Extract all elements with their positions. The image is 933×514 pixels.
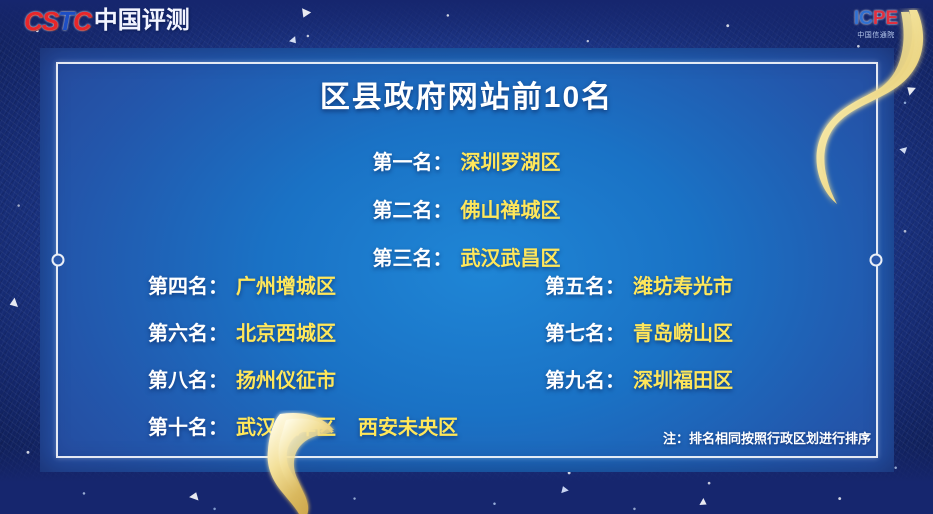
rank-label: 第六名： <box>148 323 228 345</box>
rank-value: 武汉武昌区 <box>461 248 561 270</box>
rank-row: 第三名：武汉武昌区 <box>0 242 933 271</box>
cstc-logo-chinese: 中国评测 <box>94 9 190 33</box>
cstc-logo[interactable]: CSTC 中国评测 <box>24 8 190 34</box>
rank-row: 第五名：潍坊寿光市 <box>545 270 733 299</box>
rank-value: 佛山禅城区 <box>461 200 561 222</box>
rank-row: 第八名：扬州仪征市 <box>148 364 458 393</box>
rank-value: 扬州仪征市 <box>236 370 336 392</box>
partner-logo-mark: IC <box>854 8 873 29</box>
page-title: 区县政府网站前10名 <box>0 72 933 116</box>
top-three-list: 第一名：深圳罗湖区 第二名：佛山禅城区 第三名：武汉武昌区 <box>0 146 933 290</box>
logo-mark-part2: T <box>58 6 73 36</box>
rank-label: 第一名： <box>373 152 453 174</box>
poster-stage: CSTC 中国评测 ICPE 中国信通院 区县政府网站前10名 第一名：深圳罗湖… <box>0 0 933 514</box>
rank-label: 第五名： <box>545 276 625 298</box>
rank-label: 第八名： <box>148 370 228 392</box>
rank-value: 北京西城区 <box>236 323 336 345</box>
rank-value-secondary: 西安未央区 <box>358 417 458 439</box>
logo-mark-part1: CS <box>24 6 58 36</box>
rank-value: 广州增城区 <box>236 276 336 298</box>
rank-row: 第二名：佛山禅城区 <box>0 194 933 223</box>
footnote: 注：排名相同按照行政区划进行排序 <box>663 428 871 447</box>
partner-logo-subtitle: 中国信通院 <box>857 30 895 40</box>
cstc-logo-icon: CSTC <box>24 8 91 34</box>
rank-label: 第九名： <box>545 370 625 392</box>
rank-value: 深圳罗湖区 <box>461 152 561 174</box>
rank-row: 第六名：北京西城区 <box>148 317 458 346</box>
rank-row: 第一名：深圳罗湖区 <box>0 146 933 175</box>
rank-row: 第十名：武汉江岸区西安未央区 <box>148 411 458 440</box>
partner-logo-icon: ICPE <box>854 9 898 28</box>
logo-mark-part3: C <box>73 6 91 36</box>
rank-row: 第四名：广州增城区 <box>148 270 458 299</box>
partner-logo-mark-accent: PE <box>873 8 898 29</box>
rank-label: 第四名： <box>148 276 228 298</box>
rank-row: 第七名：青岛崂山区 <box>545 317 733 346</box>
rank-value: 潍坊寿光市 <box>633 276 733 298</box>
rank-value: 武汉江岸区 <box>236 417 336 439</box>
partner-logo[interactable]: ICPE 中国信通院 <box>837 6 915 42</box>
ranking-column-right: 第五名：潍坊寿光市 第七名：青岛崂山区 第九名：深圳福田区 <box>545 270 733 411</box>
rank-label: 第十名： <box>148 417 228 439</box>
rank-label: 第三名： <box>373 248 453 270</box>
rank-value: 深圳福田区 <box>633 370 733 392</box>
rank-value: 青岛崂山区 <box>633 323 733 345</box>
rank-row: 第九名：深圳福田区 <box>545 364 733 393</box>
rank-label: 第七名： <box>545 323 625 345</box>
rank-label: 第二名： <box>373 200 453 222</box>
ranking-column-left: 第四名：广州增城区 第六名：北京西城区 第八名：扬州仪征市 第十名：武汉江岸区西… <box>148 270 458 458</box>
header-bar: CSTC 中国评测 ICPE 中国信通院 <box>0 0 933 48</box>
